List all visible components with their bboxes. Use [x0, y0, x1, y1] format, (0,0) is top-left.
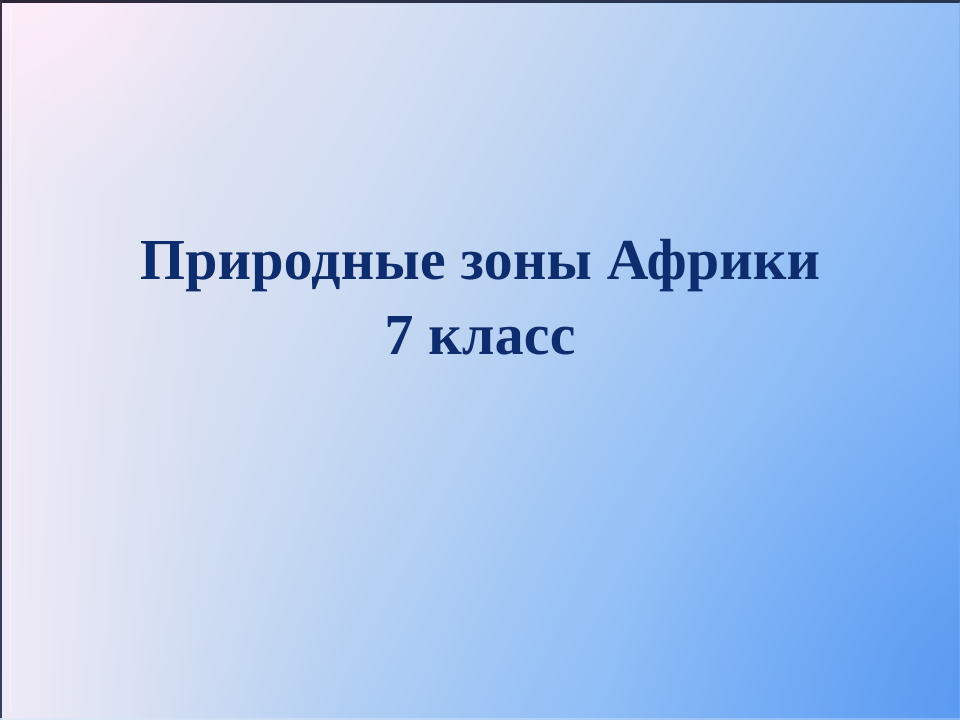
- slide-title-block: Природные зоны Африки 7 класс: [56, 222, 904, 372]
- slide-title-line-2: 7 класс: [56, 297, 904, 372]
- slide-left-edge: [0, 0, 2, 720]
- slide-inner-rule: [10, 6, 11, 710]
- slide-title-line-1: Природные зоны Африки: [56, 222, 904, 297]
- title-slide: Природные зоны Африки 7 класс: [0, 0, 960, 720]
- slide-top-edge: [0, 0, 960, 3]
